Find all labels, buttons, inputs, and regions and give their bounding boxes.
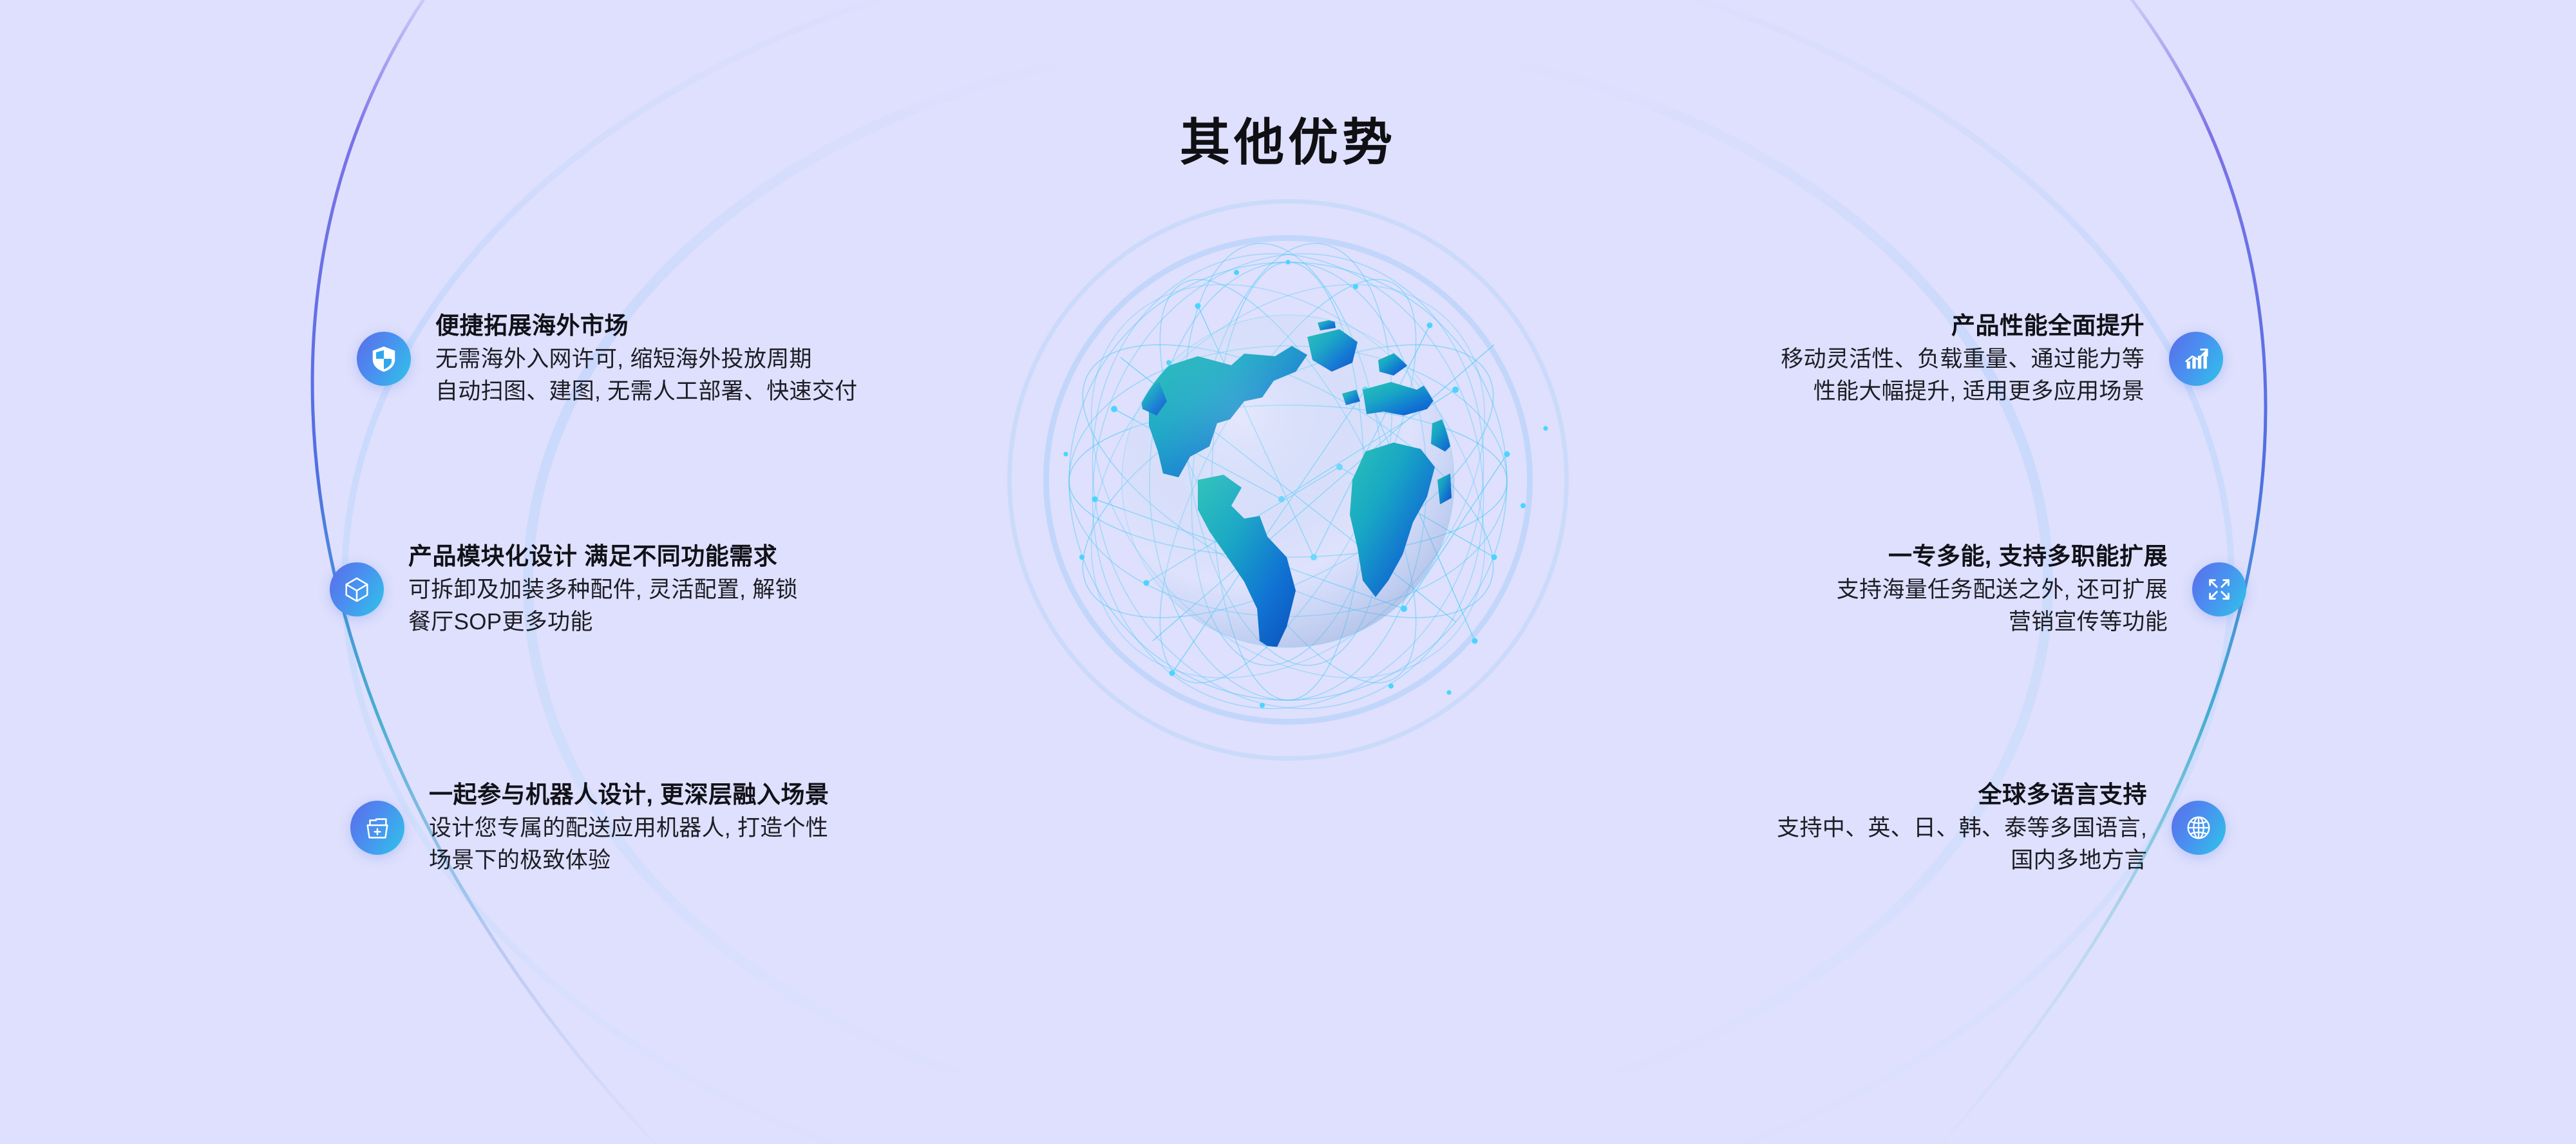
network-globe xyxy=(1005,196,1571,763)
feature-title: 产品性能全面提升 xyxy=(1951,309,2145,343)
shield-icon xyxy=(357,332,411,386)
feature-line: 移动灵活性、负载重量、通过能力等 xyxy=(1781,343,2145,376)
advantages-section: 其他优势 xyxy=(0,0,2576,1144)
feature-line: 支持海量任务配送之外, 还可扩展 xyxy=(1837,574,2168,606)
feature-card-left-3[interactable]: 一起参与机器人设计, 更深层融入场景 设计您专属的配送应用机器人, 打造个性 场… xyxy=(350,778,829,877)
feature-title: 全球多语言支持 xyxy=(1978,778,2148,812)
cube-icon xyxy=(330,562,384,616)
chart-up-icon xyxy=(2169,332,2223,386)
feature-line: 无需海外入网许可, 缩短海外投放周期 xyxy=(435,343,812,376)
folder-plus-icon xyxy=(350,801,404,855)
feature-title: 一起参与机器人设计, 更深层融入场景 xyxy=(429,778,829,812)
feature-line: 支持中、英、日、韩、泰等多国语言, xyxy=(1777,812,2147,844)
feature-card-left-2[interactable]: 产品模块化设计 满足不同功能需求 可拆卸及加装多种配件, 灵活配置, 解锁 餐厅… xyxy=(330,540,798,638)
feature-line: 场景下的极致体验 xyxy=(429,844,611,877)
feature-title: 便捷拓展海外市场 xyxy=(435,309,629,343)
feature-card-right-2[interactable]: 一专多能, 支持多职能扩展 支持海量任务配送之外, 还可扩展 营销宣传等功能 xyxy=(1837,540,2246,638)
feature-card-left-1[interactable]: 便捷拓展海外市场 无需海外入网许可, 缩短海外投放周期 自动扫图、建图, 无需人… xyxy=(357,309,857,408)
feature-card-right-3[interactable]: 全球多语言支持 支持中、英、日、韩、泰等多国语言, 国内多地方言 xyxy=(1777,778,2226,877)
feature-line: 营销宣传等功能 xyxy=(2009,606,2168,638)
feature-card-right-1[interactable]: 产品性能全面提升 移动灵活性、负载重量、通过能力等 性能大幅提升, 适用更多应用… xyxy=(1781,309,2223,408)
page-title: 其他优势 xyxy=(0,117,2576,167)
feature-line: 餐厅SOP更多功能 xyxy=(408,606,593,638)
feature-line: 国内多地方言 xyxy=(2011,844,2147,877)
feature-title: 一专多能, 支持多职能扩展 xyxy=(1888,540,2168,574)
feature-line: 设计您专属的配送应用机器人, 打造个性 xyxy=(429,812,828,844)
feature-line: 性能大幅提升, 适用更多应用场景 xyxy=(1814,376,2145,408)
globe-graphic xyxy=(1005,196,1571,763)
feature-line: 可拆卸及加装多种配件, 灵活配置, 解锁 xyxy=(408,574,798,606)
feature-line: 自动扫图、建图, 无需人工部署、快速交付 xyxy=(435,376,857,408)
feature-title: 产品模块化设计 满足不同功能需求 xyxy=(408,540,777,574)
expand-arrows-icon xyxy=(2192,562,2246,616)
globe-icon xyxy=(2172,801,2226,855)
